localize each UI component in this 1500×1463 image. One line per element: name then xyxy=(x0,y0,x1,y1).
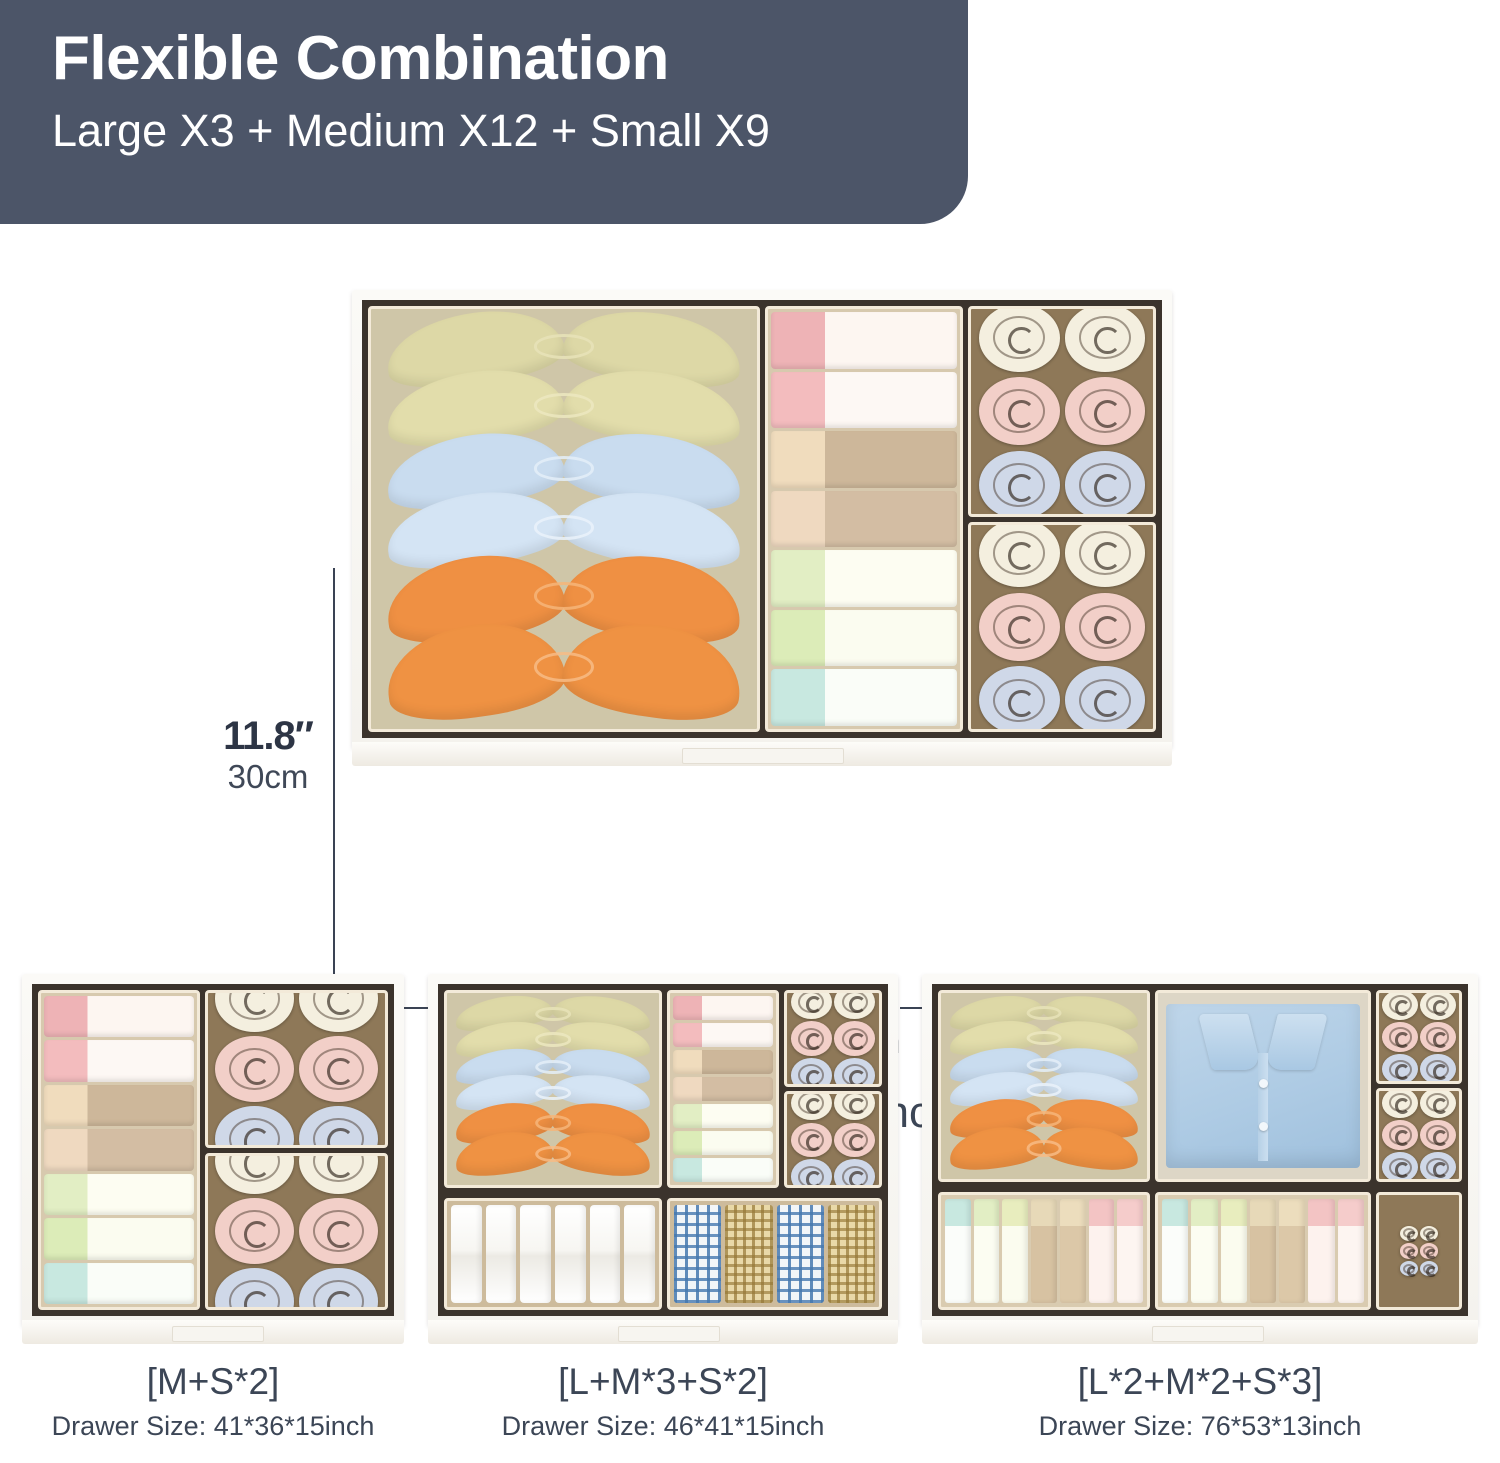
folded-towel xyxy=(486,1205,517,1303)
compartment-small-rolls xyxy=(968,306,1156,517)
variant-drawer-interior xyxy=(32,984,394,1316)
folded-garment xyxy=(1162,1199,1188,1303)
rolled-sock xyxy=(1065,451,1146,517)
bra-bow xyxy=(535,1007,571,1021)
rolled-sock xyxy=(1420,1054,1455,1084)
folded-garment xyxy=(44,1174,194,1215)
rolled-sock xyxy=(834,1159,875,1188)
rolled-sock xyxy=(979,306,1060,372)
bra-item xyxy=(371,372,757,443)
variant-caption: [M+S*2] Drawer Size: 41*36*15inch xyxy=(22,1362,404,1441)
folded-garment xyxy=(771,431,957,488)
variant-drawer-interior xyxy=(932,984,1468,1316)
rolled-sock xyxy=(791,1058,832,1087)
folded-shirt xyxy=(1166,1004,1359,1168)
folded-garment xyxy=(1250,1199,1276,1303)
rolled-sock xyxy=(1400,1261,1418,1277)
rolled-sock xyxy=(1420,990,1455,1020)
rolled-sock xyxy=(299,1153,378,1195)
rolled-sock xyxy=(1382,990,1417,1020)
plaid-garment xyxy=(725,1205,772,1303)
rolled-sock xyxy=(791,1123,832,1157)
folded-garment xyxy=(44,1085,194,1126)
rolled-sock xyxy=(1065,306,1146,372)
header-banner: Flexible Combination Large X3 + Medium X… xyxy=(0,0,968,224)
rolled-sock xyxy=(1420,1243,1438,1259)
rolled-sock xyxy=(1420,1120,1455,1150)
height-cm-value: 30cm xyxy=(218,760,318,793)
rolled-sock xyxy=(215,1268,294,1310)
rolled-sock xyxy=(1382,1120,1417,1150)
folded-garment xyxy=(1279,1199,1305,1303)
folded-garment xyxy=(1060,1199,1086,1303)
compartment-medium-folded xyxy=(38,990,200,1310)
folded-garment xyxy=(1117,1199,1143,1303)
compartment-medium-folded xyxy=(765,306,963,732)
rolled-sock xyxy=(299,1268,378,1310)
bra-bow xyxy=(535,1115,571,1131)
bra-bow xyxy=(1027,1058,1062,1072)
folded-towel xyxy=(520,1205,551,1303)
rolled-sock xyxy=(834,1021,875,1055)
shirt-collar-right xyxy=(1264,1014,1328,1070)
rolled-sock xyxy=(1420,1022,1455,1052)
compartment-medium-vertical xyxy=(1155,1192,1371,1310)
folded-garment xyxy=(44,996,194,1037)
rolled-sock xyxy=(299,1106,378,1148)
compartment-small-rolls xyxy=(1376,1088,1462,1182)
drawer-handle[interactable] xyxy=(682,748,844,764)
variant-code: [M+S*2] xyxy=(22,1362,404,1403)
folded-garment xyxy=(1031,1199,1057,1303)
compartment-medium-folded xyxy=(667,990,779,1188)
variant-code: [L*2+M*2+S*3] xyxy=(922,1362,1478,1403)
variant-drawer xyxy=(428,974,898,1326)
shirt-button xyxy=(1259,1079,1268,1088)
bra-item xyxy=(941,1128,1147,1168)
bra-bow xyxy=(535,1086,571,1100)
variant-drawer-size: Drawer Size: 41*36*15inch xyxy=(22,1412,404,1442)
folded-garment xyxy=(673,1104,773,1128)
folded-towel xyxy=(451,1205,482,1303)
compartment-medium-plaid xyxy=(667,1198,882,1310)
bra-bow xyxy=(1027,1083,1062,1097)
variant-drawer-size: Drawer Size: 76*53*13inch xyxy=(922,1412,1478,1442)
bra-bow xyxy=(535,1146,571,1163)
variant-caption: [L*2+M*2+S*3] Drawer Size: 76*53*13inch xyxy=(922,1362,1478,1441)
folded-garment xyxy=(1191,1199,1217,1303)
folded-garment xyxy=(1221,1199,1247,1303)
drawer-handle[interactable] xyxy=(1152,1326,1264,1342)
rolled-sock xyxy=(299,1198,378,1264)
variant-caption: [L+M*3+S*2] Drawer Size: 46*41*15inch xyxy=(428,1362,898,1441)
compartment-medium-vertical xyxy=(938,1192,1150,1310)
rolled-sock xyxy=(791,1091,832,1120)
rolled-sock xyxy=(215,1106,294,1148)
rolled-sock xyxy=(1400,1243,1418,1259)
rolled-sock xyxy=(979,666,1060,732)
rolled-sock xyxy=(979,377,1060,445)
rolled-sock xyxy=(791,990,832,1019)
rolled-sock xyxy=(979,593,1060,661)
variant-3: [L*2+M*2+S*3] Drawer Size: 76*53*13inch xyxy=(922,974,1478,1334)
main-drawer xyxy=(352,290,1172,748)
rolled-sock xyxy=(215,1198,294,1264)
bra-item xyxy=(447,1133,659,1174)
rolled-sock xyxy=(215,1036,294,1102)
hero-section: 11.8″ 30cm xyxy=(0,236,1500,936)
folded-garment xyxy=(771,610,957,667)
drawer-handle[interactable] xyxy=(172,1326,264,1342)
bra-bow xyxy=(1027,1031,1062,1045)
folded-garment xyxy=(771,312,957,369)
shirt-button xyxy=(1259,1122,1268,1131)
rolled-sock xyxy=(791,1159,832,1188)
rolled-sock xyxy=(979,451,1060,517)
compartment-small-rolls xyxy=(1376,1192,1462,1310)
variant-drawer xyxy=(922,974,1478,1326)
folded-towel xyxy=(624,1205,655,1303)
folded-garment xyxy=(673,1131,773,1155)
rolled-sock xyxy=(1382,1054,1417,1084)
compartment-small-rolls xyxy=(205,990,388,1148)
height-dimension-label: 11.8″ 30cm xyxy=(218,716,318,793)
folded-garment xyxy=(1002,1199,1028,1303)
folded-garment xyxy=(771,491,957,548)
shirt-placket xyxy=(1258,1053,1268,1161)
compartment-small-rolls xyxy=(205,1153,388,1311)
folded-garment xyxy=(44,1263,194,1304)
bra-item xyxy=(371,494,757,565)
folded-garment xyxy=(1308,1199,1334,1303)
compartment-large-bras xyxy=(368,306,760,732)
rolled-sock xyxy=(299,990,378,1032)
rolled-sock xyxy=(834,1123,875,1157)
compartment-medium-towels xyxy=(444,1198,662,1310)
compartment-small-rolls xyxy=(1376,990,1462,1084)
bra-bow xyxy=(535,1060,571,1074)
plaid-garment xyxy=(777,1205,824,1303)
bra-bow xyxy=(1027,1006,1062,1020)
rolled-sock xyxy=(1400,1226,1418,1242)
bra-bow xyxy=(534,582,594,610)
compartment-large-shirt xyxy=(1155,990,1371,1182)
folded-garment xyxy=(1338,1199,1364,1303)
folded-garment xyxy=(1089,1199,1115,1303)
shirt-collar-left xyxy=(1198,1014,1262,1070)
variant-drawer-size: Drawer Size: 46*41*15inch xyxy=(428,1412,898,1442)
variant-code: [L+M*3+S*2] xyxy=(428,1362,898,1403)
rolled-sock xyxy=(299,1036,378,1102)
rolled-sock xyxy=(834,1058,875,1087)
rolled-sock xyxy=(1065,666,1146,732)
folded-towel xyxy=(555,1205,586,1303)
compartment-large-bras xyxy=(444,990,662,1188)
compartment-small-rolls xyxy=(784,1091,882,1188)
rolled-sock xyxy=(791,1021,832,1055)
rolled-sock xyxy=(1420,1226,1438,1242)
folded-garment xyxy=(771,550,957,607)
rolled-sock xyxy=(1420,1261,1438,1277)
rolled-sock xyxy=(1420,1152,1455,1182)
variant-drawer-interior xyxy=(438,984,888,1316)
rolled-sock xyxy=(979,522,1060,588)
variant-1: [M+S*2] Drawer Size: 41*36*15inch xyxy=(22,974,404,1334)
compartment-small-rolls xyxy=(784,990,882,1087)
rolled-sock xyxy=(1065,377,1146,445)
folded-garment xyxy=(44,1129,194,1170)
drawer-handle[interactable] xyxy=(618,1326,720,1342)
folded-garment xyxy=(673,1023,773,1047)
rolled-sock xyxy=(1065,593,1146,661)
rolled-sock xyxy=(1420,1088,1455,1118)
bra-bow xyxy=(535,1032,571,1046)
folded-garment xyxy=(673,1050,773,1074)
height-inch-value: 11.8″ xyxy=(218,716,318,756)
main-drawer-interior xyxy=(362,300,1162,738)
variant-2: [L+M*3+S*2] Drawer Size: 46*41*15inch xyxy=(428,974,898,1334)
folded-garment xyxy=(673,996,773,1020)
banner-subtitle: Large X3 + Medium X12 + Small X9 xyxy=(52,105,968,157)
folded-garment xyxy=(44,1040,194,1081)
folded-garment xyxy=(673,1077,773,1101)
rolled-sock xyxy=(215,1153,294,1195)
rolled-sock xyxy=(1382,1152,1417,1182)
rolled-sock xyxy=(1382,1088,1417,1118)
compartment-small-rolls xyxy=(968,522,1156,733)
rolled-sock xyxy=(834,990,875,1019)
bra-item xyxy=(371,625,757,717)
plaid-garment xyxy=(674,1205,721,1303)
compartment-large-bras xyxy=(938,990,1150,1182)
bra-bow xyxy=(534,652,594,682)
variant-row: [M+S*2] Drawer Size: 41*36*15inch xyxy=(0,960,1500,1463)
variant-drawer xyxy=(22,974,404,1326)
folded-garment xyxy=(945,1199,971,1303)
height-dimension-line xyxy=(333,568,335,1008)
banner-title: Flexible Combination xyxy=(52,26,968,93)
folded-garment xyxy=(974,1199,1000,1303)
folded-towel xyxy=(590,1205,621,1303)
rolled-sock xyxy=(1382,1022,1417,1052)
plaid-garment xyxy=(828,1205,875,1303)
folded-garment xyxy=(44,1218,194,1259)
rolled-sock xyxy=(215,990,294,1032)
folded-garment xyxy=(771,669,957,726)
folded-garment xyxy=(771,372,957,429)
rolled-sock xyxy=(1065,522,1146,588)
rolled-sock xyxy=(834,1091,875,1120)
folded-garment xyxy=(673,1158,773,1182)
